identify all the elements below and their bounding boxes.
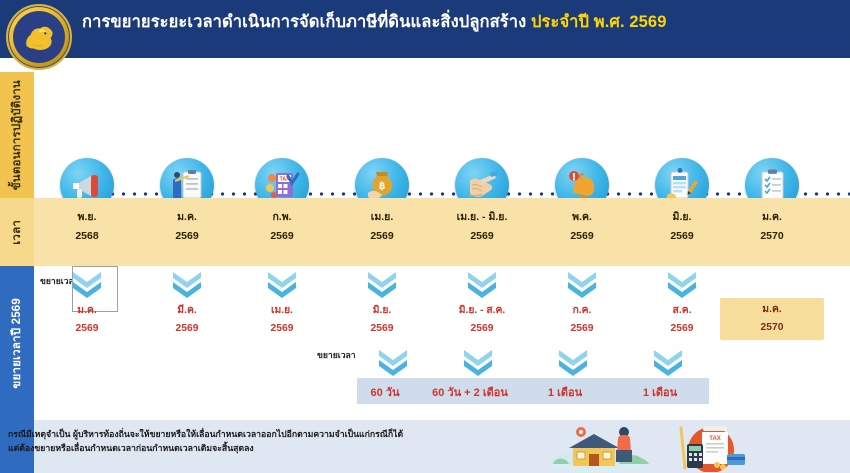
date-2-year: 2569 xyxy=(135,227,239,246)
date-4-month: เม.ย. xyxy=(330,208,434,227)
extension-date-1: ม.ค.2569 xyxy=(35,302,139,338)
svg-text:TAX: TAX xyxy=(709,436,721,442)
ext-date-8-year: 2570 xyxy=(720,319,824,337)
sidebar-label-time: เวลา xyxy=(0,198,34,266)
double-chevron-down-icon xyxy=(376,348,410,378)
steps-row: ประกาศแจ้งรายการที่ดินประกาศราคาประเมินท… xyxy=(34,72,850,198)
duration-cell-2: 60 วัน + 2 เดือน xyxy=(415,383,525,401)
extension-date-5: มิ.ย. - ส.ค.2569 xyxy=(430,302,534,338)
ext-date-5-month: มิ.ย. - ส.ค. xyxy=(430,302,534,320)
date-7-year: 2569 xyxy=(630,227,734,246)
double-chevron-down-icon xyxy=(465,270,499,300)
date-1-month: พ.ย. xyxy=(35,208,139,227)
page-title-main: การขยายระยะเวลาดำเนินการจัดเก็บภาษีที่ดิ… xyxy=(82,13,526,31)
sidebar-label-steps-text: ขั้นตอนการปฏิบัติงาน xyxy=(8,80,26,190)
date-cell-2: ม.ค.2569 xyxy=(135,208,239,246)
date-3-month: ก.พ. xyxy=(230,208,334,227)
double-chevron-down-icon xyxy=(651,348,685,378)
page-title-year: ประจำปี พ.ศ. 2569 xyxy=(531,13,667,31)
double-chevron-down-icon xyxy=(556,348,590,378)
svg-text:฿: ฿ xyxy=(379,181,385,192)
double-chevron-down-icon xyxy=(665,270,699,300)
date-4-year: 2569 xyxy=(330,227,434,246)
date-6-month: พ.ค. xyxy=(530,208,634,227)
lion-glyph-icon xyxy=(18,15,60,59)
double-chevron-down-icon xyxy=(365,270,399,300)
thai-garuda-seal-emblem xyxy=(6,4,72,70)
ext-date-6-month: ก.ค. xyxy=(530,302,634,320)
duration-cell-3: 1 เดือน xyxy=(510,383,620,401)
extension-date-4: มิ.ย.2569 xyxy=(330,302,434,338)
ext-date-3-year: 2569 xyxy=(230,320,334,338)
date-cell-7: มิ.ย.2569 xyxy=(630,208,734,246)
ext-date-7-month: ส.ค. xyxy=(630,302,734,320)
extension-date-7: ส.ค.2569 xyxy=(630,302,734,338)
extension-date-2: มี.ค.2569 xyxy=(135,302,239,338)
date-cell-3: ก.พ.2569 xyxy=(230,208,334,246)
extension-date-3: เม.ย.2569 xyxy=(230,302,334,338)
sidebar-label-extension: ขยายเวลาปี 2569 xyxy=(0,266,34,420)
ext-date-5-year: 2569 xyxy=(430,320,534,338)
date-cell-8: ม.ค.2570 xyxy=(720,208,824,246)
sidebar-label-steps: ขั้นตอนการปฏิบัติงาน xyxy=(0,72,34,198)
double-chevron-down-icon xyxy=(265,270,299,300)
date-2-month: ม.ค. xyxy=(135,208,239,227)
double-chevron-down-icon xyxy=(70,270,104,300)
ext-date-4-year: 2569 xyxy=(330,320,434,338)
page-header: การขยายระยะเวลาดำเนินการจัดเก็บภาษีที่ดิ… xyxy=(0,0,850,58)
date-5-year: 2569 xyxy=(430,227,534,246)
date-5-month: เม.ย. - มิ.ย. xyxy=(430,208,534,227)
sidebar-label-extension-text: ขยายเวลาปี 2569 xyxy=(8,298,26,389)
duration-cell-4: 1 เดือน xyxy=(605,383,715,401)
date-cell-6: พ.ค.2569 xyxy=(530,208,634,246)
double-chevron-down-icon xyxy=(461,348,495,378)
ext-date-7-year: 2569 xyxy=(630,320,734,338)
ext-date-8-month: ม.ค. xyxy=(720,301,824,319)
extension-date-6: ก.ค.2569 xyxy=(530,302,634,338)
infographic-root: การขยายระยะเวลาดำเนินการจัดเก็บภาษีที่ดิ… xyxy=(0,0,850,473)
date-8-year: 2570 xyxy=(720,227,824,246)
footer-line-2: แต่ต้องขยายหรือเลื่อนกำหนดเวลาก่อนกำหนดเ… xyxy=(8,442,520,456)
date-3-year: 2569 xyxy=(230,227,334,246)
tax-document-calculator-illustration: TAX xyxy=(665,424,757,472)
footer-line-1: กรณีมีเหตุจำเป็น ผู้บริหารท้องถิ่นจะให้ข… xyxy=(8,428,520,442)
ext-date-2-year: 2569 xyxy=(135,320,239,338)
ext-date-4-month: มิ.ย. xyxy=(330,302,434,320)
extension-date-8: ม.ค.2570 xyxy=(720,298,824,340)
double-chevron-down-icon xyxy=(170,270,204,300)
ext-date-3-month: เม.ย. xyxy=(230,302,334,320)
date-cell-1: พ.ย.2568 xyxy=(35,208,139,246)
ext-date-2-month: มี.ค. xyxy=(135,302,239,320)
ext-date-1-month: ม.ค. xyxy=(35,302,139,320)
date-1-year: 2568 xyxy=(35,227,139,246)
page-title: การขยายระยะเวลาดำเนินการจัดเก็บภาษีที่ดิ… xyxy=(82,12,842,33)
extension-label-mid: ขยายเวลา xyxy=(317,348,356,362)
dates-row: พ.ย.2568ม.ค.2569ก.พ.2569เม.ย.2569เม.ย. -… xyxy=(34,198,850,266)
date-7-month: มิ.ย. xyxy=(630,208,734,227)
date-8-month: ม.ค. xyxy=(720,208,824,227)
double-chevron-down-icon xyxy=(565,270,599,300)
date-6-year: 2569 xyxy=(530,227,634,246)
date-cell-4: เม.ย.2569 xyxy=(330,208,434,246)
date-cell-5: เม.ย. - มิ.ย.2569 xyxy=(430,208,534,246)
footer-text: กรณีมีเหตุจำเป็น ผู้บริหารท้องถิ่นจะให้ข… xyxy=(8,428,520,456)
ext-date-6-year: 2569 xyxy=(530,320,634,338)
ext-date-1-year: 2569 xyxy=(35,320,139,338)
house-with-location-pin-illustration xyxy=(545,424,657,472)
sidebar-label-time-text: เวลา xyxy=(8,220,26,245)
